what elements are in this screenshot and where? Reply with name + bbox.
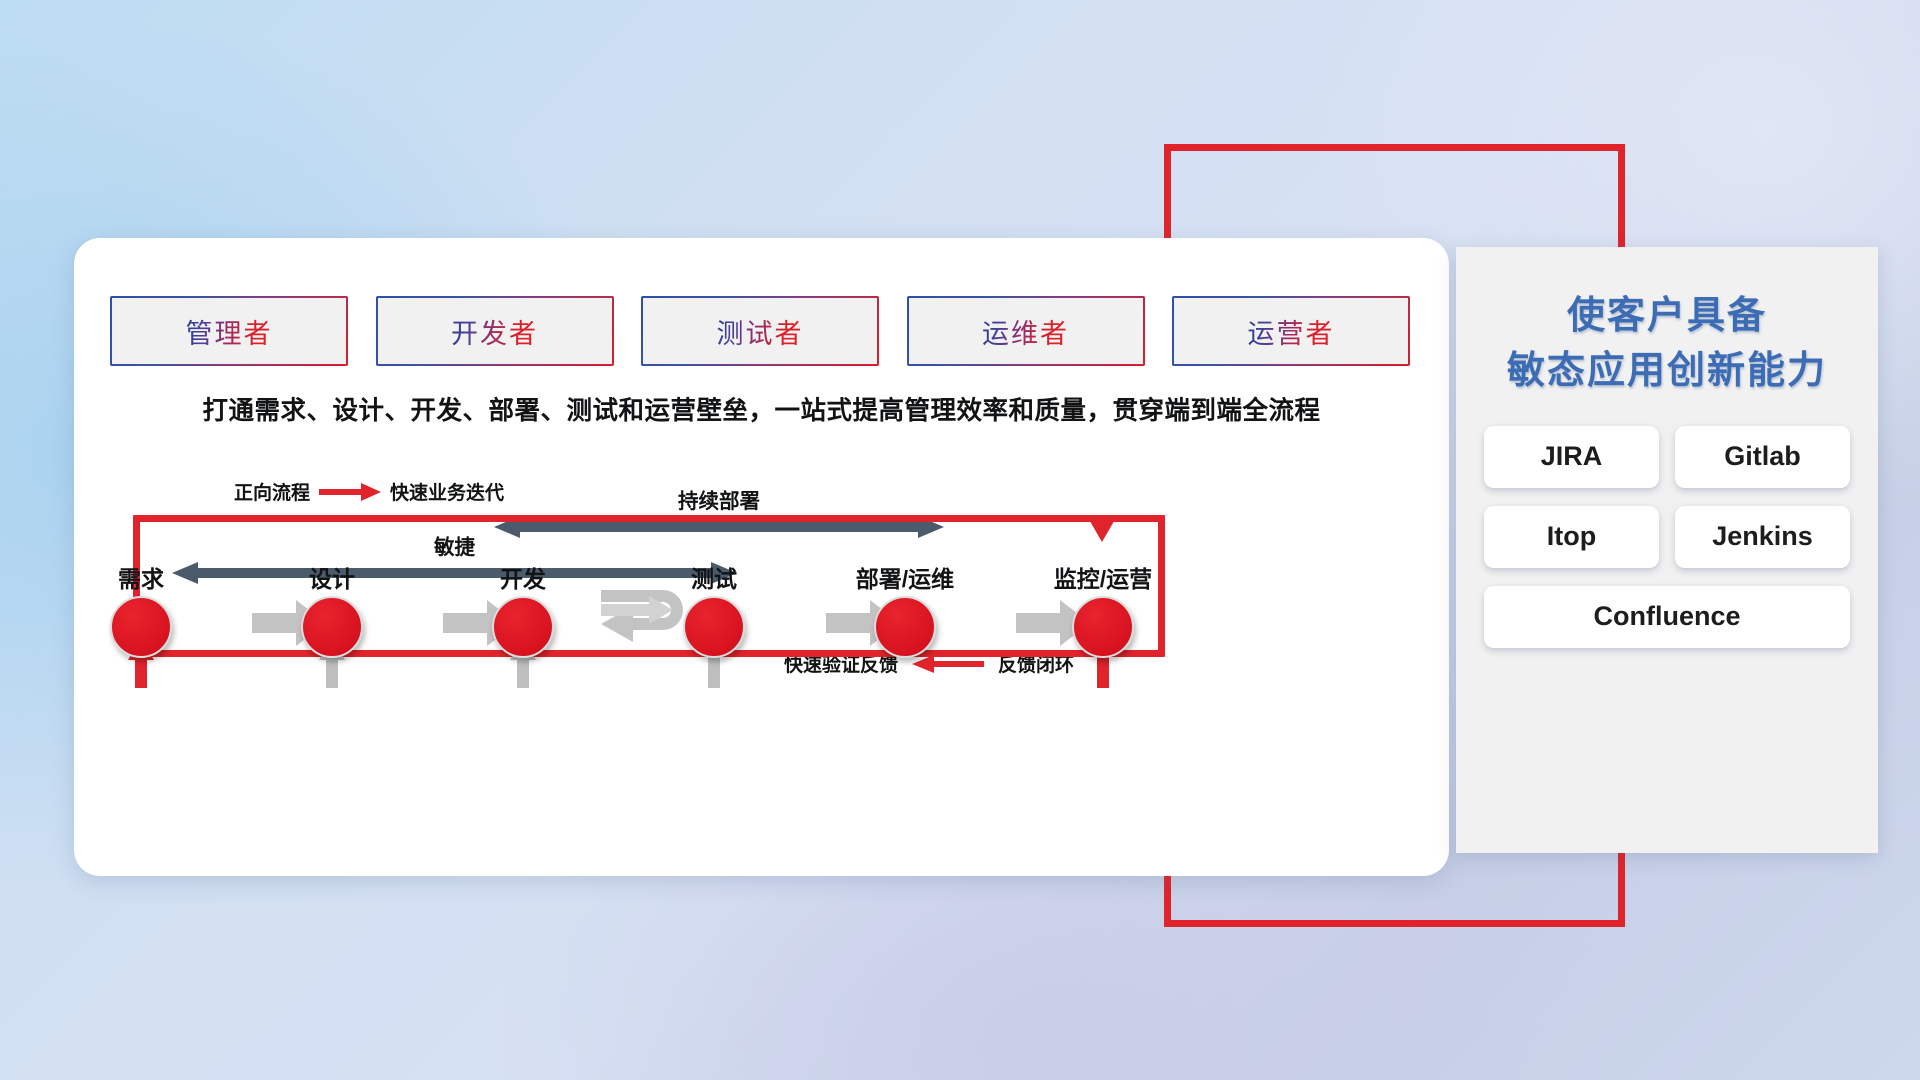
stage-dot	[874, 596, 936, 658]
role-box[interactable]: 运维者	[907, 296, 1145, 366]
headline-text: 打通需求、设计、开发、部署、测试和运营壁垒，一站式提高管理效率和质量，贯穿端到端…	[74, 390, 1449, 427]
tool-chip-grid: JIRA Gitlab Itop Jenkins Confluence	[1484, 426, 1850, 648]
stage-dot	[110, 596, 172, 658]
stage-label: 设计	[257, 560, 407, 594]
main-flow-card: 管理者 开发者 测试者 运维者 运营者 打通需求、设计、开发、部署、测试和运营壁…	[74, 238, 1449, 876]
stage-label: 部署/运维	[830, 560, 980, 594]
stage-node[interactable]: 测试	[639, 560, 789, 658]
legend-forward-target: 快速业务迭代	[390, 478, 504, 505]
tool-chip[interactable]: Jenkins	[1675, 506, 1850, 568]
panel-title: 使客户具备 敏态应用创新能力	[1484, 289, 1850, 400]
role-box-row: 管理者 开发者 测试者 运维者 运营者	[110, 296, 1410, 366]
role-label: 管理者	[186, 312, 273, 351]
stage-node[interactable]: 需求	[66, 560, 216, 658]
panel-title-line2: 敏态应用创新能力	[1484, 344, 1850, 399]
stage-node[interactable]: 监控/运营	[1028, 560, 1178, 658]
legend-forward-flow: 正向流程 快速业务迭代	[234, 478, 504, 505]
stage-label: 开发	[448, 560, 598, 594]
pipeline-row: 需求 设计 开发	[74, 560, 1449, 690]
stage-dot	[1072, 596, 1134, 658]
role-label: 测试者	[717, 312, 804, 351]
loop-arrow-down-head-icon	[1087, 508, 1117, 542]
tool-chip[interactable]: Itop	[1484, 506, 1659, 568]
tool-chip[interactable]: Gitlab	[1675, 426, 1850, 488]
span-caption: 持续部署	[494, 484, 944, 514]
stage-node[interactable]: 部署/运维	[830, 560, 980, 658]
role-label: 运维者	[982, 312, 1069, 351]
stage-label: 需求	[66, 560, 216, 594]
capability-panel: 使客户具备 敏态应用创新能力 JIRA Gitlab Itop Jenkins …	[1456, 247, 1878, 853]
stage-label: 监控/运营	[1028, 560, 1178, 594]
role-box[interactable]: 测试者	[641, 296, 879, 366]
stage-node[interactable]: 设计	[257, 560, 407, 658]
tool-chip[interactable]: Confluence	[1484, 586, 1850, 648]
tool-chip[interactable]: JIRA	[1484, 426, 1659, 488]
role-box[interactable]: 运营者	[1172, 296, 1410, 366]
stage-dot	[301, 596, 363, 658]
legend-forward-source: 正向流程	[234, 478, 310, 505]
stage-node[interactable]: 开发	[448, 560, 598, 658]
diagram-canvas: 管理者 开发者 测试者 运维者 运营者 打通需求、设计、开发、部署、测试和运营壁…	[0, 0, 1920, 1080]
panel-title-line1: 使客户具备	[1484, 289, 1850, 344]
stage-label: 测试	[639, 560, 789, 594]
role-box[interactable]: 开发者	[376, 296, 614, 366]
role-box[interactable]: 管理者	[110, 296, 348, 366]
role-label: 开发者	[451, 312, 538, 351]
stage-dot	[492, 596, 554, 658]
role-label: 运营者	[1248, 312, 1335, 351]
arrow-right-red-icon	[319, 483, 381, 501]
stage-dot	[683, 596, 745, 658]
